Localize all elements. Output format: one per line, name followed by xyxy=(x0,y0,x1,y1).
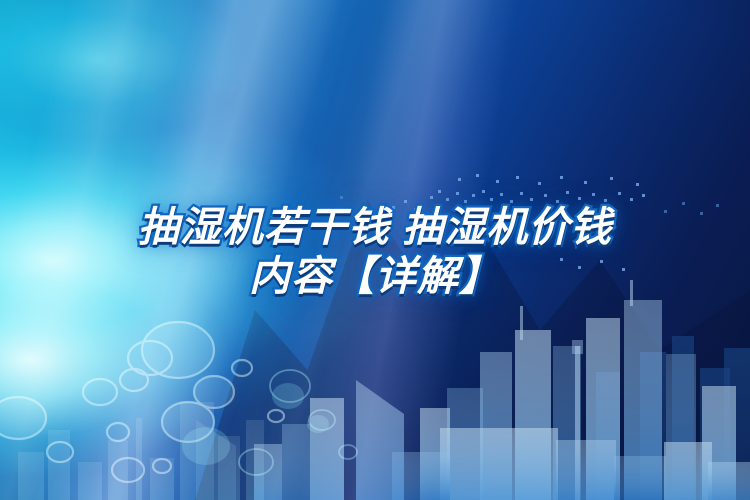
title-line-2: 内容【详解】 xyxy=(0,252,750,301)
banner-title: 抽湿机若干钱 抽湿机价钱 内容【详解】 xyxy=(0,203,750,301)
title-line-1: 抽湿机若干钱 抽湿机价钱 xyxy=(0,203,750,252)
banner-image: 抽湿机若干钱 抽湿机价钱 内容【详解】 xyxy=(0,0,750,500)
